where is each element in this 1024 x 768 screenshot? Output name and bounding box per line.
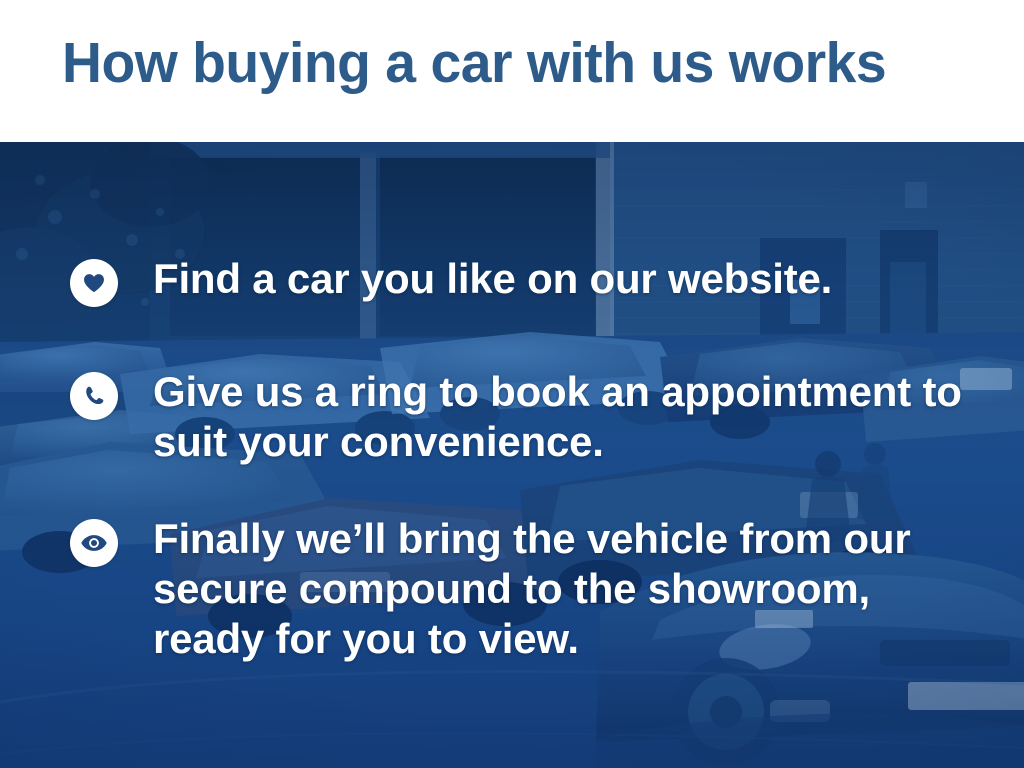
step-item-bring-the-vehicle: Finally we’ll bring the vehicle from our… (70, 514, 973, 664)
page-title: How buying a car with us works (62, 34, 886, 94)
eye-icon (80, 529, 108, 557)
heart-icon (81, 270, 107, 296)
steps-list: Find a car you like on our website. Give… (0, 142, 1024, 768)
step-text-bring-the-vehicle: Finally we’ll bring the vehicle from our… (153, 514, 973, 664)
header-band: How buying a car with us works (0, 0, 1024, 142)
phone-badge (70, 372, 118, 420)
step-text-find-a-car: Find a car you like on our website. (153, 254, 832, 304)
step-item-give-us-a-ring: Give us a ring to book an appointment to… (70, 367, 973, 467)
step-text-give-us-a-ring: Give us a ring to book an appointment to… (153, 367, 973, 467)
phone-icon (82, 384, 106, 408)
slide-root: How buying a car with us works Find a ca… (0, 0, 1024, 768)
heart-badge (70, 259, 118, 307)
step-item-find-a-car: Find a car you like on our website. (70, 254, 832, 307)
eye-badge (70, 519, 118, 567)
